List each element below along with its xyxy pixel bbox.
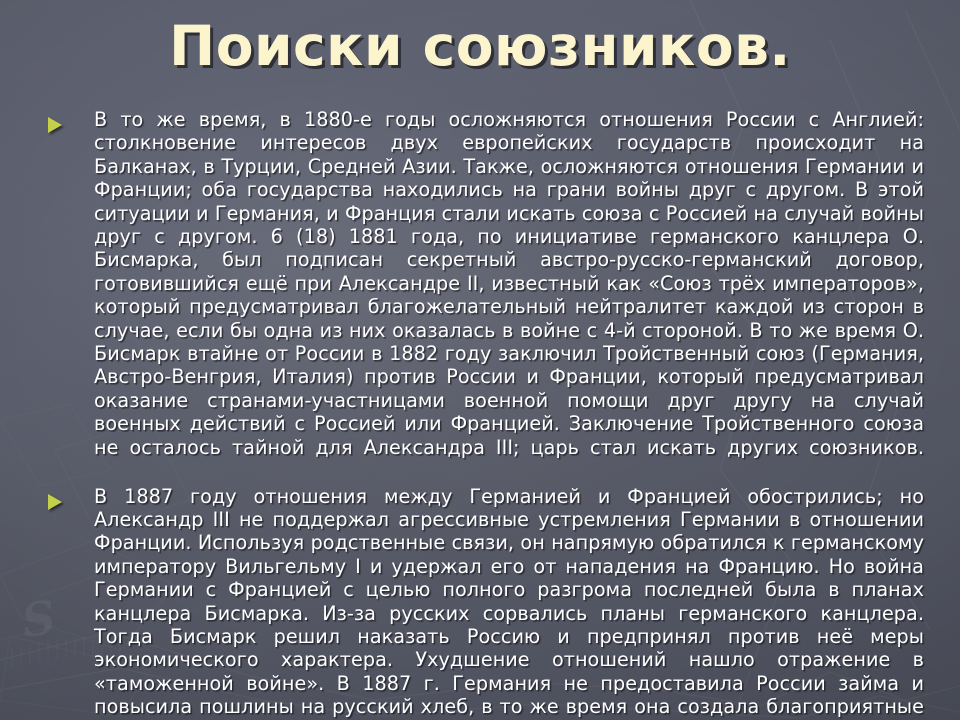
bullet-marker xyxy=(40,485,94,510)
list-item: В 1887 году отношения между Германией и … xyxy=(40,485,924,720)
list-item-text: В то же время, в 1880-е годы осложняются… xyxy=(94,108,924,483)
list-item-text: В 1887 году отношения между Германией и … xyxy=(94,485,924,720)
triangle-right-icon xyxy=(48,494,62,510)
list-item: В то же время, в 1880-е годы осложняются… xyxy=(40,108,924,483)
bullet-marker xyxy=(40,108,94,133)
page-title: Поиски союзников. xyxy=(0,18,960,76)
presentation-slide: S Поиски союзников. В то же время, в 188… xyxy=(0,0,960,720)
triangle-right-icon xyxy=(48,117,62,133)
slide-body: В то же время, в 1880-е годы осложняются… xyxy=(40,108,924,720)
